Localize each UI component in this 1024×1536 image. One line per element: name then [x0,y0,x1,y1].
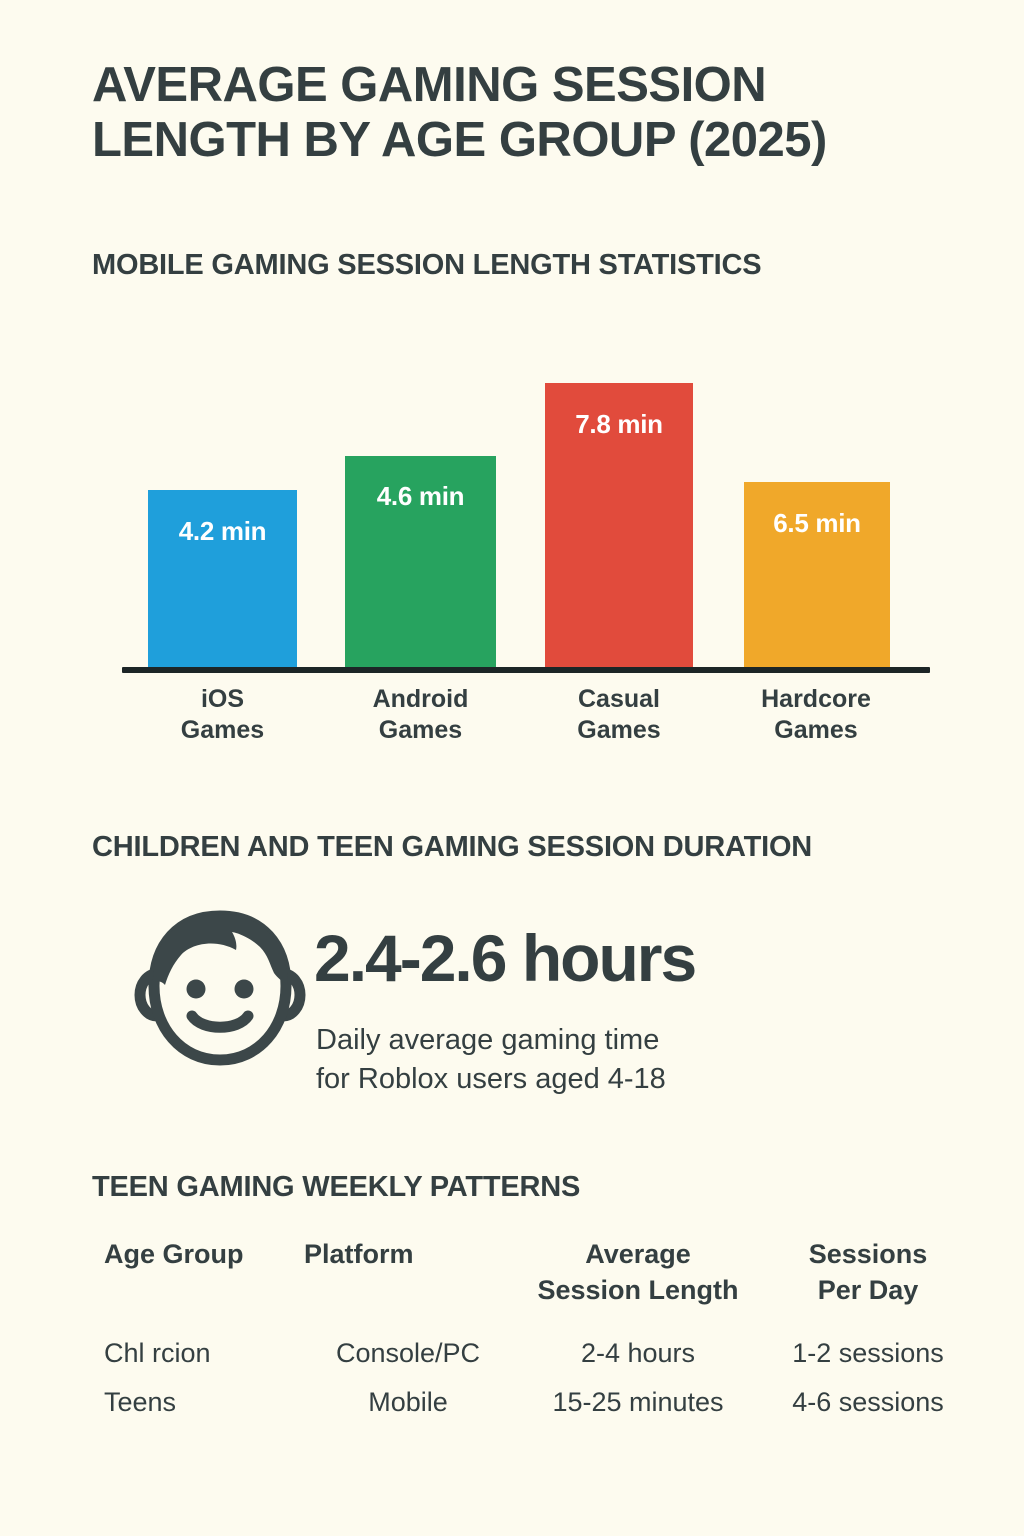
table-header-session-length-line-1: Average [512,1236,764,1272]
bar-label-casual-line-1: Casual [520,684,718,715]
bar-chart-plot-area: 4.2 min 4.6 min 7.8 min 6.5 min [122,360,930,670]
bar-value-android: 4.6 min [345,481,496,512]
bar-casual: 7.8 min [545,383,693,670]
bar-label-ios-line-2: Games [123,715,322,746]
bar-label-casual: Casual Games [520,684,718,745]
bar-label-android-line-2: Games [320,715,521,746]
cell-age-group: Teens [92,1384,304,1420]
bar-label-android-line-1: Android [320,684,521,715]
table-body: Chl rcion Console/PC 2-4 hours 1-2 sessi… [92,1335,972,1421]
bar-label-ios-line-1: iOS [123,684,322,715]
infographic-page: AVERAGE GAMING SESSION LENGTH BY AGE GRO… [0,0,1024,1536]
table-header-age-group: Age Group [92,1236,304,1313]
bar-label-casual-line-2: Games [520,715,718,746]
cell-platform: Mobile [304,1384,512,1420]
children-stat-description-line-1: Daily average gaming time [316,1021,666,1060]
teen-patterns-table: Age Group Platform Average Session Lengt… [92,1236,972,1421]
bar-ios: 4.2 min [148,490,297,670]
table-header-row: Age Group Platform Average Session Lengt… [92,1236,972,1313]
cell-session-length: 2-4 hours [512,1335,764,1371]
bar-label-hardcore: Hardcore Games [718,684,914,745]
page-title-line-2: LENGTH BY AGE GROUP (2025) [92,113,972,168]
cell-session-length: 15-25 minutes [512,1384,764,1420]
chart-axis-line [122,667,930,673]
section-heading-mobile: MOBILE GAMING SESSION LENGTH STATISTICS [92,249,761,282]
children-stat-description: Daily average gaming time for Roblox use… [316,1021,666,1099]
cell-sessions-per-day: 1-2 sessions [764,1335,972,1371]
table-header-platform-line-1: Platform [304,1236,512,1272]
bar-label-ios: iOS Games [123,684,322,745]
bar-label-hardcore-line-1: Hardcore [718,684,914,715]
table-header-session-length: Average Session Length [512,1236,764,1313]
table-header-sessions-per-day: Sessions Per Day [764,1236,972,1313]
bar-hardcore: 6.5 min [744,482,890,670]
cell-sessions-per-day: 4-6 sessions [764,1384,972,1420]
bar-label-android: Android Games [320,684,521,745]
table-header-age-group-line-1: Age Group [104,1236,304,1272]
bar-value-casual: 7.8 min [545,409,693,440]
cell-age-group: Chl rcion [92,1335,304,1371]
table-header-sessions-per-day-line-1: Sessions [764,1236,972,1272]
table-row: Chl rcion Console/PC 2-4 hours 1-2 sessi… [92,1335,972,1371]
section-heading-children: CHILDREN AND TEEN GAMING SESSION DURATIO… [92,831,812,864]
page-title: AVERAGE GAMING SESSION LENGTH BY AGE GRO… [92,58,972,168]
table-header-platform: Platform [304,1236,512,1313]
cell-platform: Console/PC [304,1335,512,1371]
bar-label-hardcore-line-2: Games [718,715,914,746]
children-stat-value: 2.4-2.6 hours [314,925,695,991]
table-row: Teens Mobile 15-25 minutes 4-6 sessions [92,1384,972,1420]
bar-value-hardcore: 6.5 min [744,508,890,539]
bar-android: 4.6 min [345,456,496,670]
section-heading-teen: TEEN GAMING WEEKLY PATTERNS [92,1171,580,1204]
child-face-icon [120,903,320,1073]
table-header-sessions-per-day-line-2: Per Day [764,1272,972,1308]
table-header-session-length-line-2: Session Length [512,1272,764,1308]
children-stat-description-line-2: for Roblox users aged 4-18 [316,1060,666,1099]
page-title-line-1: AVERAGE GAMING SESSION [92,58,972,113]
bar-value-ios: 4.2 min [148,516,297,547]
